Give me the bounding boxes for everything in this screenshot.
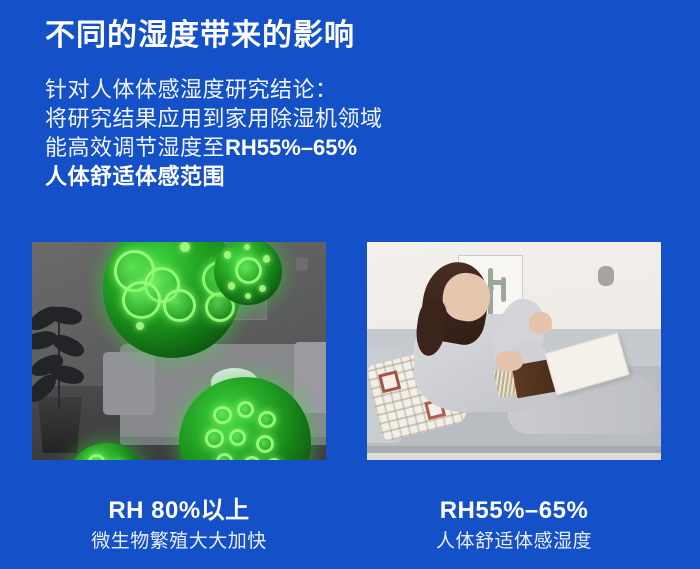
microbe-speck [244, 244, 250, 250]
microbe-cell [216, 453, 233, 460]
microbe-speck [259, 285, 266, 292]
microbe-cell [256, 435, 275, 453]
caption-right-title: RH55%–65% [367, 496, 661, 526]
microbe-cell [122, 281, 161, 319]
body-line-4: 人体舒适体感范围 [45, 162, 383, 191]
microbe-cell [163, 289, 196, 322]
caption-left-title: RH 80%以上 [32, 496, 326, 526]
dark-living-room-scene [32, 242, 326, 460]
body-line-3-normal: 能高效调节湿度至 [45, 135, 225, 160]
microbe-cell [229, 429, 246, 446]
microbe-speck [263, 255, 270, 262]
body-line-1: 针对人体体感湿度研究结论： [45, 75, 383, 104]
humidity-range-inline: RH55%–65% [225, 135, 357, 160]
person-hand-holding-book [496, 351, 522, 371]
microbe-cell [205, 429, 224, 447]
page-title: 不同的湿度带来的影响 [45, 17, 355, 55]
body-copy: 针对人体体感湿度研究结论： 将研究结果应用到家用除湿机领域 能高效调节湿度至RH… [45, 75, 383, 191]
cactus-arm [490, 280, 504, 285]
potted-plant [32, 307, 111, 420]
microbe-cell [88, 454, 106, 460]
caption-right-subtitle: 人体舒适体感湿度 [367, 528, 661, 556]
microbe-speck [228, 282, 235, 289]
body-line-2: 将研究结果应用到家用除湿机领域 [45, 104, 383, 133]
microbe-speck [245, 293, 251, 299]
microbe-cell [266, 458, 282, 460]
microbe-cell [258, 411, 275, 428]
microbe-cell [235, 257, 262, 284]
leaf-icon [46, 304, 83, 329]
microbe-cell [213, 406, 232, 424]
photo-woman-reading [367, 242, 661, 460]
microbe-speck [180, 242, 190, 252]
caption-right: RH55%–65% 人体舒适体感湿度 [367, 496, 661, 556]
microbe-cell [237, 401, 254, 418]
caption-left-subtitle: 微生物繁殖大大加快 [32, 528, 326, 556]
promo-slide: { "theme": { "background_blue": "#1450C8… [0, 0, 700, 569]
microbe-cell [243, 456, 262, 460]
microbe-speck [136, 322, 144, 330]
body-line-3: 能高效调节湿度至RH55%–65% [45, 133, 383, 162]
bright-living-room-scene [367, 242, 661, 460]
wall-switch [296, 257, 308, 271]
microbe-speck [224, 251, 231, 258]
thermostat-icon [598, 266, 614, 286]
person-hand-at-head [529, 312, 553, 334]
caption-left: RH 80%以上 微生物繁殖大大加快 [32, 496, 326, 556]
photo-microbes-dark-room [32, 242, 326, 460]
